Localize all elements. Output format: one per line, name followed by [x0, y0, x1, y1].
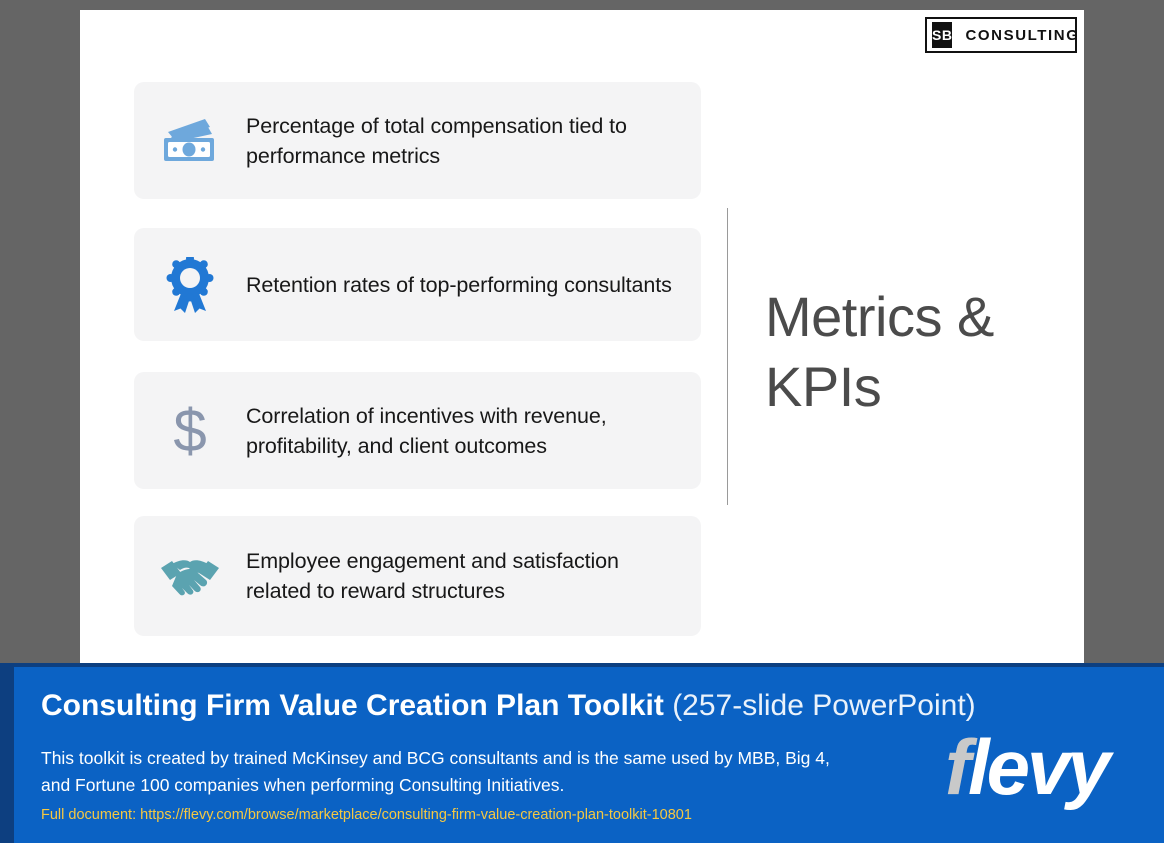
metric-card-engagement[interactable]: Employee engagement and satisfaction rel… [134, 516, 701, 636]
metric-card-text: Employee engagement and satisfaction rel… [246, 546, 701, 606]
banner-title-light: (257-slide PowerPoint) [672, 689, 975, 722]
flevy-logo-levy: levy [968, 723, 1108, 811]
banner-title: Consulting Firm Value Creation Plan Tool… [41, 689, 976, 723]
vertical-divider [727, 208, 728, 505]
metric-card-correlation[interactable]: $ Correlation of incentives with revenue… [134, 372, 701, 489]
dollar-sign-icon: $ [134, 372, 246, 489]
award-ribbon-icon [134, 228, 246, 341]
svg-text:$: $ [173, 400, 206, 462]
slide-canvas: SB CONSULTING Percentage of total compen… [80, 10, 1084, 663]
banner-title-bold: Consulting Firm Value Creation Plan Tool… [41, 689, 664, 722]
banner-description: This toolkit is created by trained McKin… [41, 745, 851, 799]
flevy-logo-f: f [945, 723, 968, 811]
handshake-icon [134, 516, 246, 636]
sb-logo-wordmark: CONSULTING [965, 27, 1079, 44]
metric-card-retention[interactable]: Retention rates of top-performing consul… [134, 228, 701, 341]
metric-card-text: Retention rates of top-performing consul… [246, 270, 690, 300]
metric-card-text: Percentage of total compensation tied to… [246, 111, 701, 171]
metric-card-text: Correlation of incentives with revenue, … [246, 401, 701, 461]
sb-logo-mark: SB [932, 22, 952, 48]
sb-consulting-logo: SB CONSULTING [925, 17, 1077, 53]
flevy-logo: flevy [945, 728, 1108, 806]
money-banknote-icon [134, 82, 246, 199]
section-title: Metrics & KPIs [765, 282, 1065, 422]
metric-card-compensation[interactable]: Percentage of total compensation tied to… [134, 82, 701, 199]
section-title-line-2: KPIs [765, 352, 1065, 422]
banner-document-url[interactable]: Full document: https://flevy.com/browse/… [41, 807, 692, 823]
section-title-line-1: Metrics & [765, 282, 1065, 352]
